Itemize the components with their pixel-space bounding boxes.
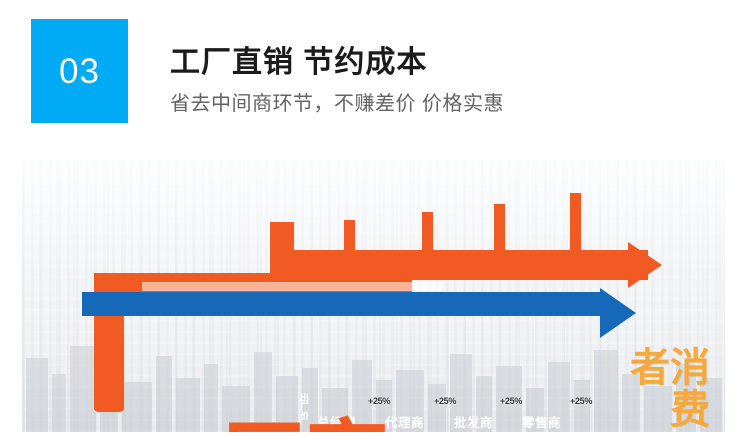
section-header: 03 工厂直销 节约成本 省去中间商环节，不赚差价 价格实惠 [0,0,748,150]
chain-band-orange [270,222,648,280]
factory-word: 厂家 [218,418,390,432]
supply-chain-diagram [22,160,725,432]
step-number-label: 03 [59,54,100,89]
band-separator [142,282,442,291]
consumer-word: 消费者 [626,346,706,432]
promo-banner: 出厂价 +25% +25% +25% +25% 总经销 代理商 批发商 零售商 … [22,160,725,432]
page-subtitle: 省去中间商环节，不赚差价 价格实惠 [170,93,504,115]
markup-bars [344,193,581,252]
page-title: 工厂直销 节约成本 [170,46,427,79]
blue-direct-band [82,288,636,338]
orange-arrow-head [602,242,662,288]
step-number-badge: 03 [31,19,128,123]
